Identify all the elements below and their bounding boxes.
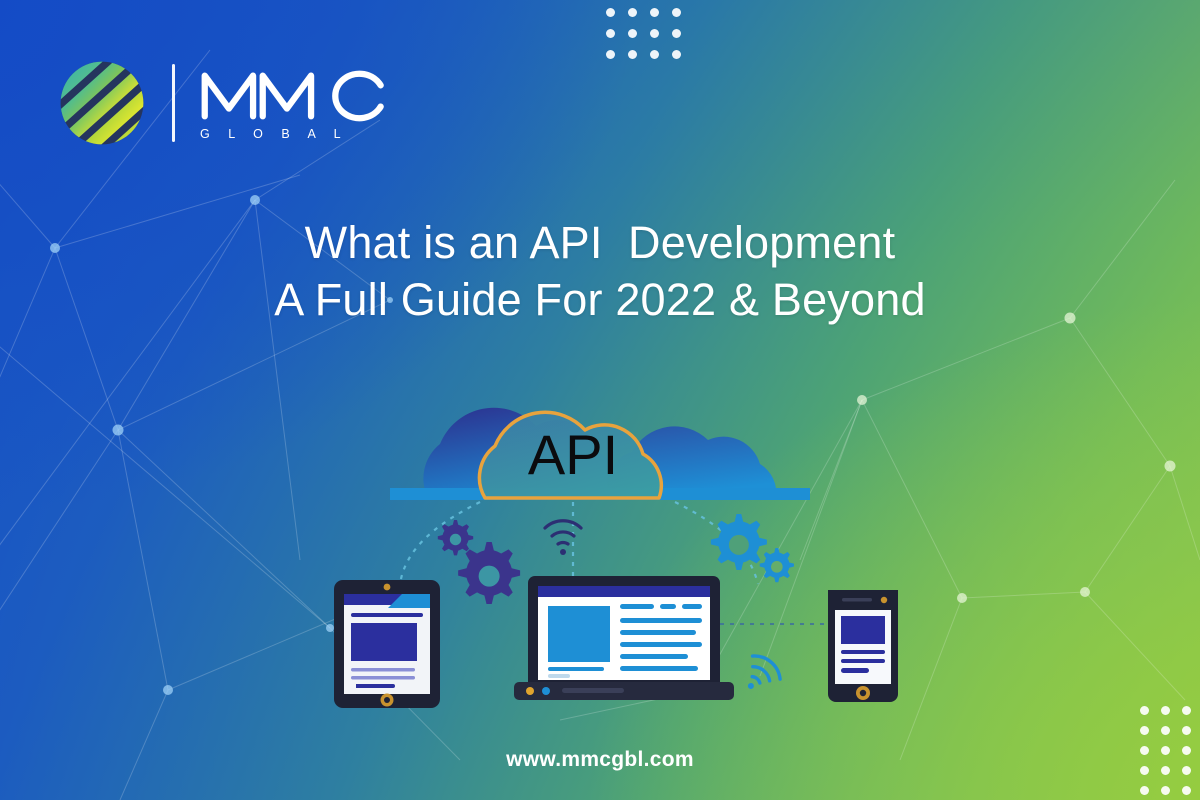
grid-dot xyxy=(1182,706,1191,715)
grid-dot xyxy=(1161,726,1170,735)
logo-divider xyxy=(172,64,175,142)
device-smartphone xyxy=(828,590,898,702)
brand-logo[interactable]: G L O B A L xyxy=(56,57,390,149)
grid-dot xyxy=(672,29,681,38)
gear-small-right-icon xyxy=(760,548,794,582)
grid-dot xyxy=(606,50,615,59)
cloud-label: API xyxy=(528,423,618,486)
grid-dot xyxy=(1182,726,1191,735)
page-title: What is an API Development A Full Guide … xyxy=(0,214,1200,328)
wifi-top-center-icon xyxy=(545,521,581,555)
grid-dot xyxy=(606,29,615,38)
gear-large-right-icon xyxy=(711,514,767,570)
wifi-bottom-right-icon xyxy=(735,650,785,699)
device-laptop xyxy=(514,576,734,700)
mmc-wordmark-icon xyxy=(197,66,390,124)
device-tablet xyxy=(334,580,440,708)
grid-dot xyxy=(606,8,615,17)
grid-dot xyxy=(672,8,681,17)
grid-dot xyxy=(1140,726,1149,735)
grid-dot xyxy=(1161,706,1170,715)
grid-dot xyxy=(1161,786,1170,795)
logo-text-block: G L O B A L xyxy=(197,66,390,141)
grid-dot xyxy=(650,8,659,17)
grid-dot xyxy=(672,50,681,59)
grid-dot xyxy=(628,29,637,38)
grid-dot xyxy=(650,50,659,59)
gear-large-left-icon xyxy=(458,542,520,604)
logo-subtitle: G L O B A L xyxy=(197,127,390,141)
dot-grid-top xyxy=(606,8,694,71)
grid-dot xyxy=(1182,786,1191,795)
grid-dot xyxy=(628,50,637,59)
gear-small-left-icon xyxy=(438,520,473,555)
api-illustration: API xyxy=(280,352,940,722)
grid-dot xyxy=(628,8,637,17)
headline-line-1: What is an API Development xyxy=(0,214,1200,271)
headline-line-2: A Full Guide For 2022 & Beyond xyxy=(0,271,1200,328)
footer-website-url[interactable]: www.mmcgbl.com xyxy=(0,748,1200,772)
banner-canvas: G L O B A L What is an API Development A… xyxy=(0,0,1200,800)
mmc-globe-logo-icon xyxy=(56,57,148,149)
grid-dot xyxy=(650,29,659,38)
grid-dot xyxy=(1140,706,1149,715)
grid-dot xyxy=(1140,786,1149,795)
